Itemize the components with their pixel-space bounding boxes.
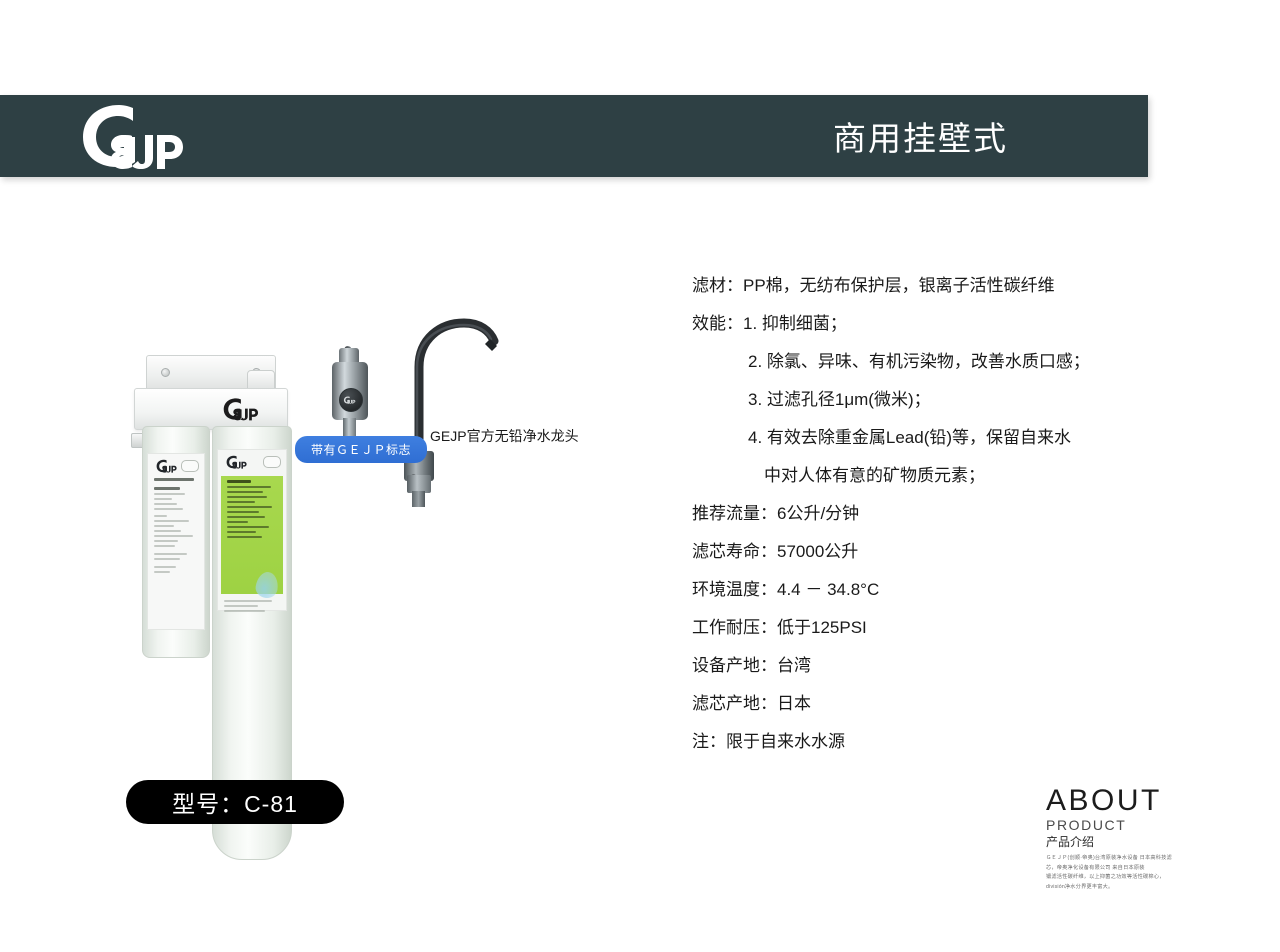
spec-line: 工作耐压：低于125PSI: [692, 619, 1162, 636]
about-product-block: ABOUT PRODUCT 产品介绍 ＧＥＪＰ(创顺·帝奥)台湾原装净水设备 日…: [1046, 786, 1246, 893]
about-subheading: PRODUCT: [1046, 818, 1246, 832]
gejp-logo: [219, 397, 271, 421]
model-number-badge: 型号：C-81: [126, 780, 344, 824]
about-fine-print-line: ＧＥＪＰ(创顺·帝奥)台湾原装净水设备 日本高科技滤: [1046, 854, 1246, 864]
spec-line: 滤芯产地：日本: [692, 695, 1162, 712]
spec-line: 环境温度：4.4 － 34.8°C: [692, 581, 1162, 598]
spec-line: 4. 有效去除重金属Lead(铅)等，保留自来水: [692, 429, 1162, 446]
about-chinese-heading: 产品介绍: [1046, 836, 1246, 848]
spec-line: 2. 除氯、异味、有机污染物，改善水质口感；: [692, 353, 1162, 370]
gooseneck-faucet: [398, 315, 504, 505]
spec-line: 3. 过滤孔径1μm(微米)；: [692, 391, 1162, 408]
gejp-medallion-icon: [339, 388, 363, 412]
cartridge-label: [147, 453, 205, 630]
spec-line: 效能：1. 抑制细菌；: [692, 315, 1162, 332]
filter-valve-head: [328, 348, 372, 444]
filter-cartridge-left: [142, 426, 210, 658]
faucet-caption: GEJP官方无铅净水龙头: [430, 426, 579, 446]
page-title: 商用挂壁式: [833, 112, 1008, 160]
filter-head-manifold: [134, 388, 288, 430]
faucet-tailpiece: [412, 491, 425, 507]
about-fine-print-line: 镶滤活性碳纤维，以上抑菌之功效等活性碳棉心，: [1046, 873, 1246, 883]
spec-line: 滤材：PP棉，无纺布保护层，银离子活性碳纤维: [692, 277, 1162, 294]
gejp-mark-badge: 带有ＧＥＪＰ标志: [295, 436, 427, 463]
spec-line: 推荐流量：6公升/分钟: [692, 505, 1162, 522]
certification-badge: [263, 456, 281, 468]
spec-line: 滤芯寿命：57000公升: [692, 543, 1162, 560]
header-banner: 商用挂壁式: [0, 95, 1148, 177]
about-fine-print: ＧＥＪＰ(创顺·帝奥)台湾原装净水设备 日本高科技滤 芯，帝奥净化设备有限公司 …: [1046, 854, 1246, 893]
gejp-logo: [154, 459, 184, 473]
about-fine-print-line: 芯，帝奥净化设备有限公司 来自日本原装: [1046, 864, 1246, 874]
gejp-logo: [224, 455, 254, 469]
model-number-label: 型号：C-81: [172, 785, 298, 819]
product-image-area: 带有ＧＥＪＰ标志 GEJP官方无铅净水龙头: [0, 200, 660, 840]
bracket-screw-icon: [161, 368, 170, 377]
about-fine-print-line: división净水分界更丰富大。: [1046, 883, 1246, 893]
certification-badge: [181, 460, 199, 472]
cartridge-label: [217, 449, 287, 611]
spec-line: 中对人体有意的矿物质元素；: [692, 467, 1162, 484]
gejp-logo: [75, 101, 215, 171]
spec-line: 设备产地：台湾: [692, 657, 1162, 674]
valve-body: [332, 362, 368, 420]
spec-line: 注：限于自来水水源: [692, 733, 1162, 750]
label-text-block: [154, 478, 198, 624]
about-heading: ABOUT: [1046, 786, 1246, 816]
specification-list: 滤材：PP棉，无纺布保护层，银离子活性碳纤维 效能：1. 抑制细菌； 2. 除氯…: [692, 277, 1162, 771]
